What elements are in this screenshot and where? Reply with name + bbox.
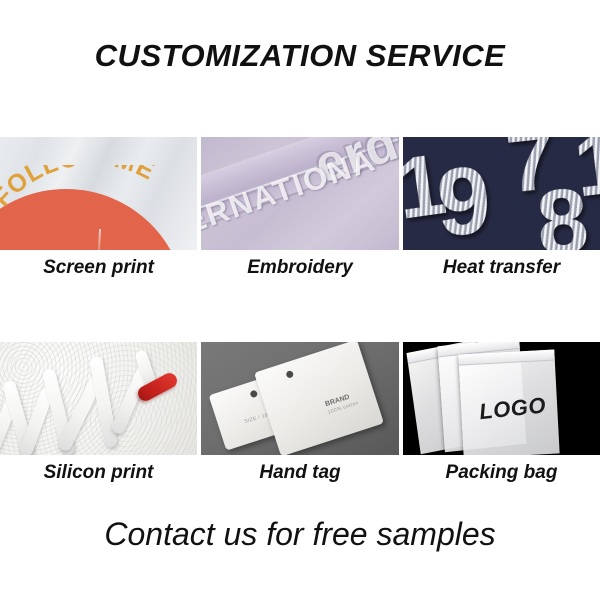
heat-transfer-glyph-2: 9	[435, 158, 493, 247]
svg-text:N'T FOLLOW ME: N'T FOLLOW ME	[0, 165, 160, 250]
screen-print-artwork-text: N'T FOLLOW ME	[0, 165, 160, 250]
service-grid-row: N'T FOLLOW ME Screen print erdi ERNATION…	[0, 137, 600, 279]
service-grid-row: Silicon print SIZE / 180 / 92 BRAND 100%…	[0, 342, 600, 484]
service-label-screen-print: Screen print	[0, 257, 197, 279]
service-cell-screen-print[interactable]: N'T FOLLOW ME Screen print	[0, 137, 197, 279]
customization-service-poster: CUSTOMIZATION SERVICE N'T FOLLOW ME	[0, 0, 600, 601]
service-cell-packing-bag[interactable]: LOGO Packing bag	[403, 342, 600, 484]
footer-cta: Contact us for free samples	[0, 516, 600, 553]
service-grid: N'T FOLLOW ME Screen print erdi ERNATION…	[0, 137, 600, 484]
page-title: CUSTOMIZATION SERVICE	[0, 38, 600, 74]
packing-bag-photo[interactable]: LOGO	[403, 342, 600, 455]
service-cell-embroidery[interactable]: erdi ERNATIONA Embroidery	[201, 137, 399, 279]
hang-tag-hole-icon	[249, 390, 258, 399]
packing-bag-logo-text: LOGO	[478, 392, 547, 425]
service-label-heat-transfer: Heat transfer	[403, 257, 600, 279]
service-label-embroidery: Embroidery	[201, 257, 399, 279]
service-cell-silicon-print[interactable]: Silicon print	[0, 342, 197, 484]
screen-print-photo[interactable]: N'T FOLLOW ME	[0, 137, 197, 250]
hang-tag-front: BRAND 100% cotton	[254, 342, 384, 455]
silicon-stroke-6	[89, 356, 118, 449]
hang-tag-hole-icon	[285, 370, 294, 379]
hand-tag-photo[interactable]: SIZE / 180 / 92 BRAND 100% cotton	[201, 342, 399, 455]
service-label-hand-tag: Hand tag	[201, 462, 399, 484]
heat-transfer-photo[interactable]: 1 9 7 8 1	[403, 137, 600, 250]
packing-bag-front: LOGO	[458, 350, 559, 455]
service-cell-heat-transfer[interactable]: 1 9 7 8 1 Heat transfer	[403, 137, 600, 279]
service-label-packing-bag: Packing bag	[403, 462, 600, 484]
service-label-silicon-print: Silicon print	[0, 462, 197, 484]
silicon-print-photo[interactable]	[0, 342, 197, 455]
embroidery-photo[interactable]: erdi ERNATIONA	[201, 137, 399, 250]
service-cell-hand-tag[interactable]: SIZE / 180 / 92 BRAND 100% cotton Hand t…	[201, 342, 399, 484]
